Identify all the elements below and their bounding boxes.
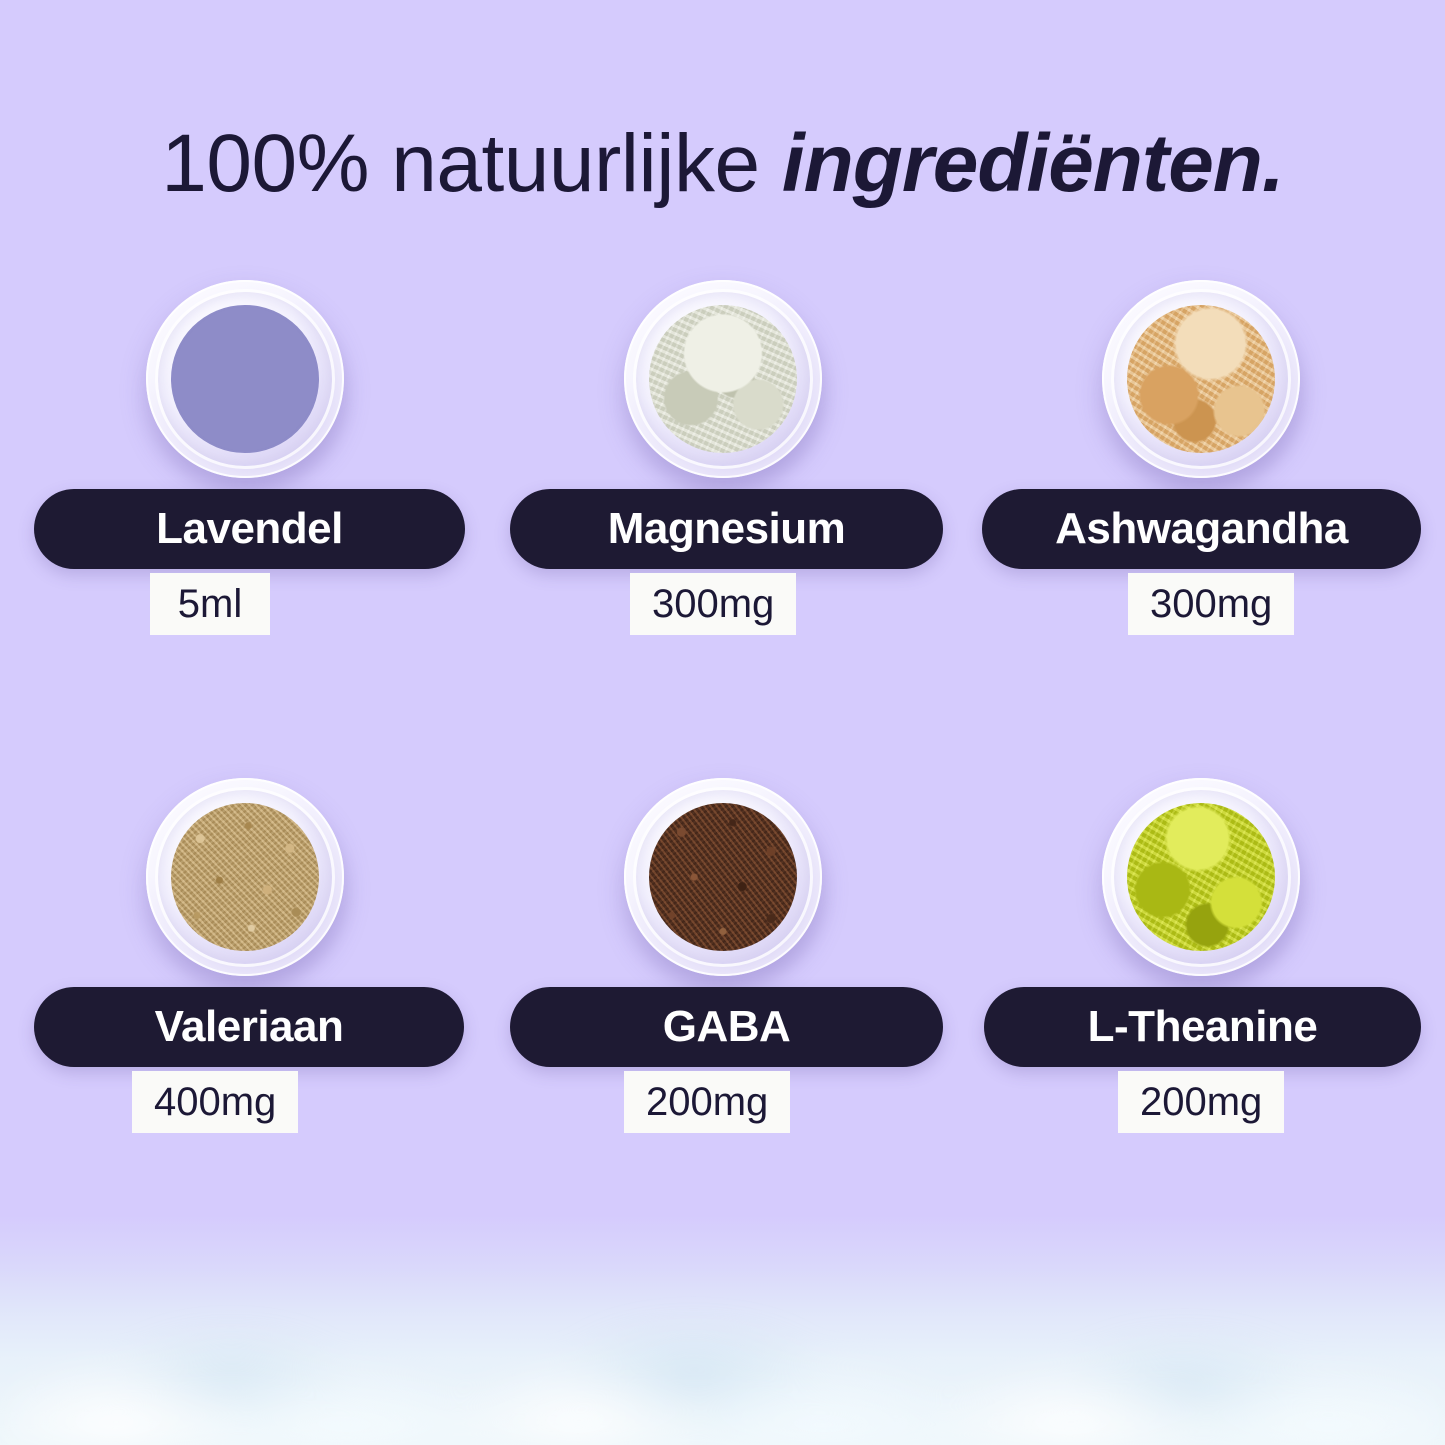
name-pill-row: Magnesium [502,485,943,573]
ingredient-name-pill[interactable]: Ashwagandha [982,489,1421,569]
ingredient-name-pill[interactable]: Valeriaan [34,987,464,1067]
bowl-wrapper [502,778,943,983]
ingredient-name-pill[interactable]: Magnesium [510,489,943,569]
name-pill-row: Ashwagandha [980,485,1421,573]
bowl-wrapper [24,280,465,485]
bowl-wrapper [502,280,943,485]
ingredient-dose-chip: 200mg [624,1071,790,1133]
bowl-contents [171,305,319,453]
ingredient-dose-chip: 300mg [1128,573,1294,635]
bowl-wrapper [980,778,1421,983]
bowl-wrapper [24,778,465,983]
bowl-contents [1127,305,1275,453]
ingredient-name-pill[interactable]: Lavendel [34,489,465,569]
ingredient-name-pill[interactable]: GABA [510,987,943,1067]
valerian-root-bowl-icon [146,778,344,976]
powder-texture [649,803,797,951]
bowl-contents [649,305,797,453]
lavender-flowers-bowl-icon [146,280,344,478]
dose-row: 200mg [980,1071,1421,1143]
powder-texture [171,305,319,453]
ingredient-card-gaba: GABA 200mg [502,778,943,1143]
dose-row: 300mg [980,573,1421,645]
magnesium-powder-bowl-icon [624,280,822,478]
powder-texture [1127,803,1275,951]
ingredients-infographic: 100% natuurlijke ingrediënten. Lavendel … [0,0,1445,1445]
name-pill-row: GABA [502,983,943,1071]
bowl-contents [171,803,319,951]
dose-row: 400mg [24,1071,465,1143]
name-pill-row: L-Theanine [980,983,1421,1071]
powder-texture [1127,305,1275,453]
name-pill-row: Lavendel [24,485,465,573]
bowl-contents [649,803,797,951]
powder-texture [649,305,797,453]
ingredient-dose-chip: 5ml [150,573,270,635]
ingredient-card-magnesium: Magnesium 300mg [502,280,943,645]
dose-row: 200mg [502,1071,943,1143]
ingredient-name-pill[interactable]: L-Theanine [984,987,1421,1067]
ingredient-dose-chip: 300mg [630,573,796,635]
ingredient-dose-chip: 200mg [1118,1071,1284,1133]
ingredient-card-ashwagandha: Ashwagandha 300mg [980,280,1421,645]
gaba-seeds-bowl-icon [624,778,822,976]
bowl-contents [1127,803,1275,951]
ingredient-card-l-theanine: L-Theanine 200mg [980,778,1421,1143]
theanine-green-powder-bowl-icon [1102,778,1300,976]
ashwagandha-powder-bowl-icon [1102,280,1300,478]
powder-texture [171,803,319,951]
dose-row: 5ml [24,573,465,645]
dose-row: 300mg [502,573,943,645]
ingredient-card-valeriaan: Valeriaan 400mg [24,778,465,1143]
ingredient-dose-chip: 400mg [132,1071,298,1133]
ingredient-grid: Lavendel 5ml Magnesium 300mg [0,0,1445,1445]
bowl-wrapper [980,280,1421,485]
ingredient-card-lavendel: Lavendel 5ml [24,280,465,645]
name-pill-row: Valeriaan [24,983,465,1071]
